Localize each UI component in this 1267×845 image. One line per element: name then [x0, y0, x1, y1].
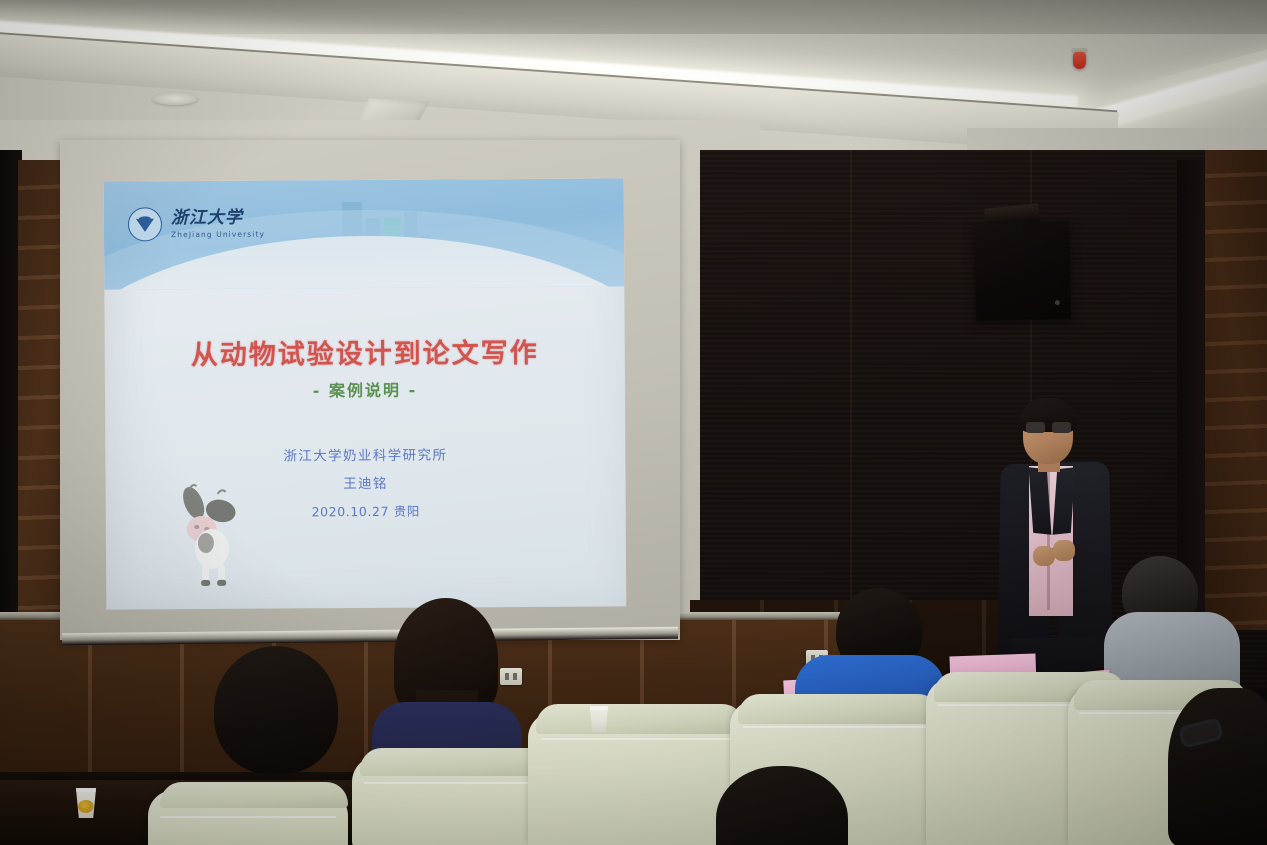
chair-armrest[interactable] [738, 694, 940, 724]
speaker-led-icon [1055, 300, 1060, 305]
wood-column-right [1205, 150, 1267, 630]
presenter-hand-right [1053, 540, 1075, 561]
wall-speaker [974, 221, 1072, 321]
wall-outlet-icon[interactable] [500, 668, 522, 685]
presentation-slide: 浙江大学 ZheJiang University 从动物试验设计到论文写作 - … [104, 178, 627, 609]
wall-shadow-gap-right [1177, 160, 1205, 630]
zju-logo-english: ZheJiang University [171, 229, 265, 239]
zju-logo: 浙江大学 ZheJiang University [128, 207, 265, 242]
slide-subtitle: - 案例说明 - [105, 375, 625, 402]
chair-armrest[interactable] [536, 704, 744, 734]
fire-sprinkler-icon [1073, 52, 1086, 69]
downlight-icon [152, 92, 198, 105]
chair-armrest[interactable] [160, 782, 348, 808]
ceiling-upper-band [0, 0, 1267, 34]
zju-seal-icon [128, 207, 162, 241]
cartoon-cow-icon [166, 481, 253, 592]
slide-affiliation: 浙江大学奶业科学研究所 [105, 440, 625, 472]
audience-head [214, 646, 338, 774]
presenter-hand-left [1033, 546, 1055, 566]
chair-armrest[interactable] [360, 748, 552, 776]
slide-header-banner: 浙江大学 ZheJiang University [104, 178, 625, 289]
conference-room-scene: 浙江大学 ZheJiang University 从动物试验设计到论文写作 - … [0, 0, 1267, 845]
glasses-icon [1026, 422, 1071, 431]
zju-logo-chinese: 浙江大学 [171, 209, 265, 227]
audience-head [1168, 688, 1267, 845]
slide-title: 从动物试验设计到论文写作 [105, 330, 625, 372]
